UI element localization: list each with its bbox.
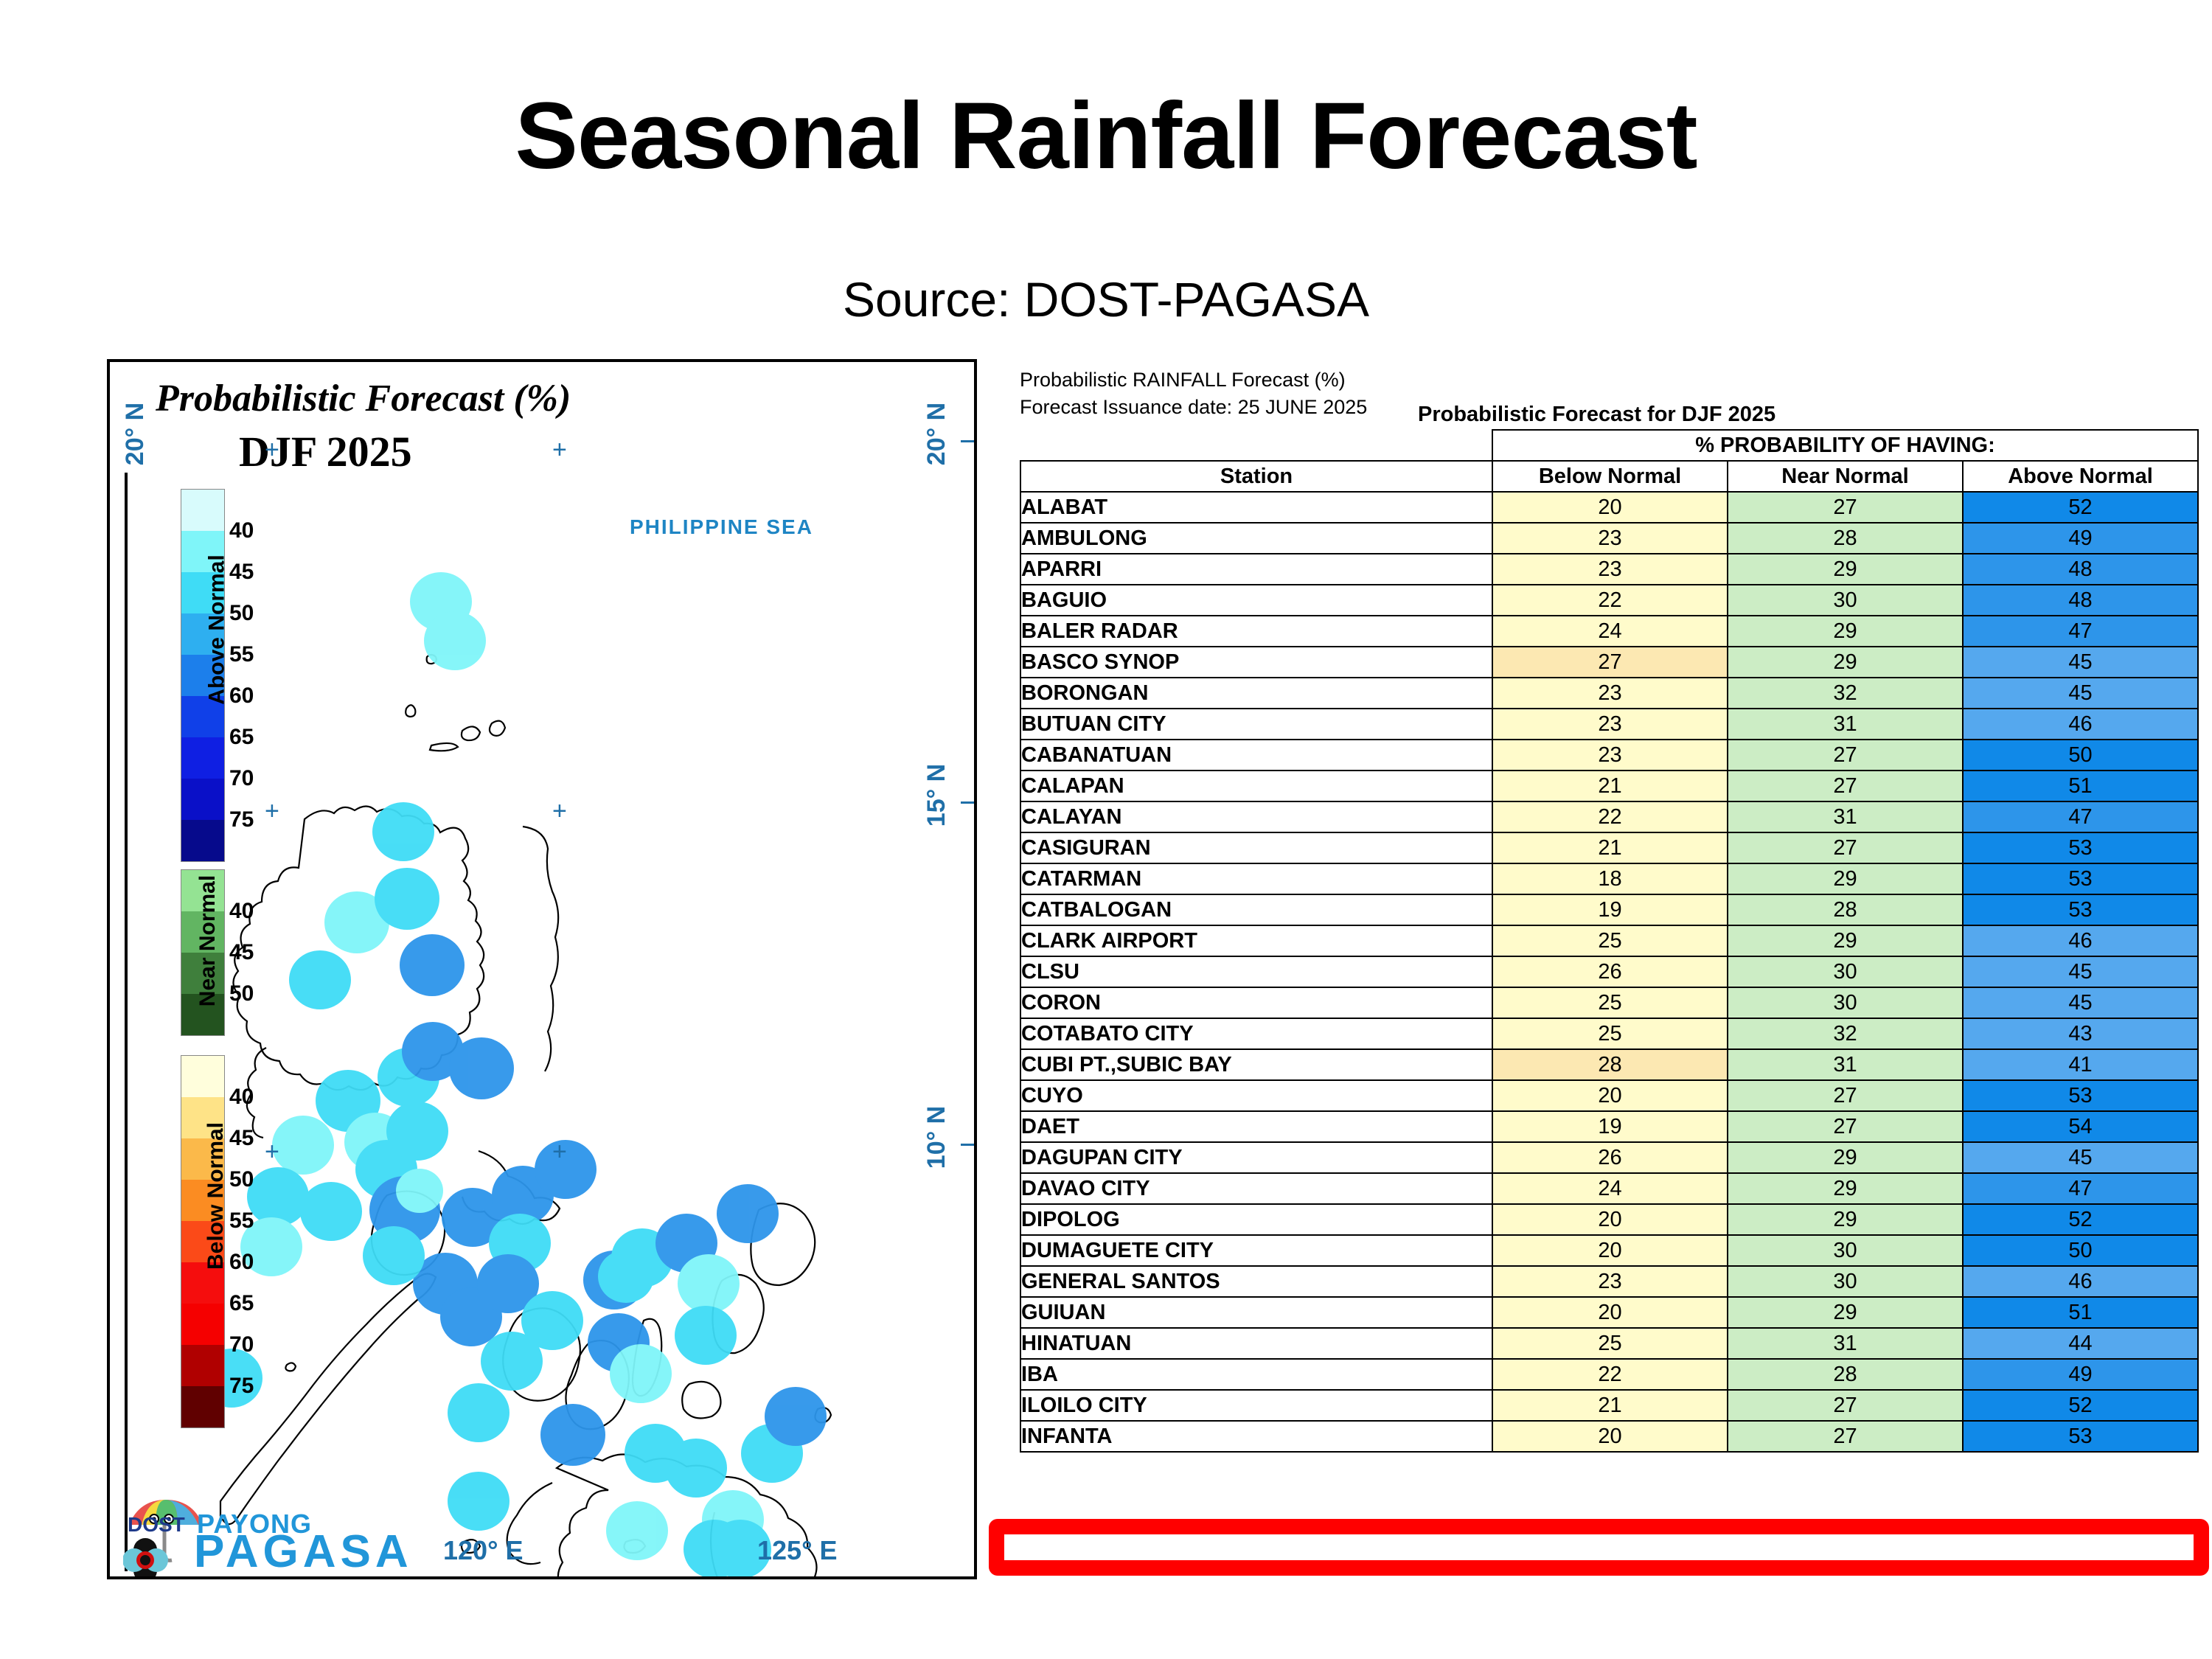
cell-station: COTABATO CITY	[1020, 1018, 1492, 1049]
blank-header-cell	[1020, 430, 1492, 461]
cell-near-normal: 31	[1728, 1328, 1963, 1359]
cell-below-normal: 22	[1492, 1359, 1728, 1390]
table-column-header-row: Station Below Normal Near Normal Above N…	[1020, 461, 2198, 492]
cell-below-normal: 23	[1492, 523, 1728, 554]
cell-above-normal: 47	[1963, 801, 2198, 832]
cell-station: CATARMAN	[1020, 863, 1492, 894]
cell-station: BORONGAN	[1020, 678, 1492, 709]
cell-near-normal: 28	[1728, 523, 1963, 554]
cell-station: BUTUAN CITY	[1020, 709, 1492, 740]
cell-station: CATBALOGAN	[1020, 894, 1492, 925]
cell-above-normal: 53	[1963, 894, 2198, 925]
cell-near-normal: 30	[1728, 1235, 1963, 1266]
grid-crosshair: +	[265, 799, 279, 824]
cell-above-normal: 50	[1963, 740, 2198, 771]
cell-above-normal: 49	[1963, 1359, 2198, 1390]
cell-near-normal: 27	[1728, 1421, 1963, 1452]
table-row[interactable]: DAET192754	[1020, 1111, 2198, 1142]
cell-near-normal: 29	[1728, 863, 1963, 894]
cell-near-normal: 30	[1728, 1266, 1963, 1297]
cell-station: CUYO	[1020, 1080, 1492, 1111]
cell-near-normal: 32	[1728, 1018, 1963, 1049]
cell-station: GENERAL SANTOS	[1020, 1266, 1492, 1297]
cell-below-normal: 25	[1492, 987, 1728, 1018]
cell-above-normal: 50	[1963, 1235, 2198, 1266]
cell-near-normal: 27	[1728, 1390, 1963, 1421]
table-row[interactable]: CUBI PT.,SUBIC BAY283141	[1020, 1049, 2198, 1080]
lon-label-120e: 120° E	[443, 1535, 523, 1566]
philippine-sea-label: PHILIPPINE SEA	[630, 515, 813, 539]
legend-band	[181, 490, 224, 531]
grid-crosshair: +	[552, 799, 567, 824]
table-row[interactable]: ILOILO CITY212752	[1020, 1390, 2198, 1421]
forecast-table-body: ALABAT202752AMBULONG232849APARRI232948BA…	[1020, 492, 2198, 1452]
cell-near-normal: 29	[1728, 647, 1963, 678]
legend-band	[181, 820, 224, 861]
table-group-header-row: % PROBABILITY OF HAVING:	[1020, 430, 2198, 461]
legend-above-normal-label: Above Normal	[205, 554, 230, 704]
page-subtitle: Source: DOST-PAGASA	[0, 271, 2212, 327]
cell-near-normal: 29	[1728, 1173, 1963, 1204]
legend-divider	[125, 473, 128, 1571]
cell-above-normal: 51	[1963, 1297, 2198, 1328]
cell-above-normal: 51	[1963, 771, 2198, 801]
cell-below-normal: 20	[1492, 1235, 1728, 1266]
cell-near-normal: 29	[1728, 616, 1963, 647]
cell-near-normal: 31	[1728, 801, 1963, 832]
cell-below-normal: 23	[1492, 554, 1728, 585]
table-row[interactable]: CUYO202753	[1020, 1080, 2198, 1111]
cell-below-normal: 21	[1492, 832, 1728, 863]
legend-tick-label: 50	[229, 983, 254, 1005]
col-header-station[interactable]: Station	[1020, 461, 1492, 492]
table-row[interactable]: DIPOLOG202952	[1020, 1204, 2198, 1235]
cell-station: CLARK AIRPORT	[1020, 925, 1492, 956]
cell-above-normal: 52	[1963, 1390, 2198, 1421]
cell-near-normal: 31	[1728, 709, 1963, 740]
legend-tick-label: 50	[229, 602, 254, 625]
grid-crosshair: +	[265, 437, 279, 462]
cell-above-normal: 41	[1963, 1049, 2198, 1080]
cell-near-normal: 27	[1728, 492, 1963, 523]
cell-station: CABANATUAN	[1020, 740, 1492, 771]
cell-near-normal: 30	[1728, 956, 1963, 987]
cell-below-normal: 28	[1492, 1049, 1728, 1080]
cell-near-normal: 32	[1728, 678, 1963, 709]
cell-below-normal: 21	[1492, 771, 1728, 801]
cell-station: ALABAT	[1020, 492, 1492, 523]
table-row[interactable]: APARRI232948	[1020, 554, 2198, 585]
table-row[interactable]: BAGUIO223048	[1020, 585, 2198, 616]
forecast-map-panel: Probabilistic Forecast (%) DJF 2025 PHIL…	[107, 359, 977, 1579]
table-row[interactable]: DUMAGUETE CITY203050	[1020, 1235, 2198, 1266]
cell-below-normal: 20	[1492, 492, 1728, 523]
tick-10n	[961, 1144, 974, 1146]
cell-below-normal: 19	[1492, 1111, 1728, 1142]
grid-crosshair: +	[265, 1139, 279, 1164]
cell-above-normal: 53	[1963, 863, 2198, 894]
cell-station: ILOILO CITY	[1020, 1390, 1492, 1421]
cell-station: INFANTA	[1020, 1421, 1492, 1452]
cell-below-normal: 25	[1492, 1328, 1728, 1359]
cell-near-normal: 29	[1728, 925, 1963, 956]
legend-tick-label: 70	[229, 768, 254, 790]
legend-below-normal-label: Below Normal	[204, 1122, 229, 1270]
cell-station: CALAPAN	[1020, 771, 1492, 801]
lat-label-right-20n: 20° N	[922, 403, 951, 465]
map-title: Probabilistic Forecast (%)	[156, 377, 672, 420]
tick-15n	[961, 801, 974, 804]
lon-label-125e: 125° E	[757, 1535, 837, 1566]
cell-below-normal: 23	[1492, 1266, 1728, 1297]
cell-station: DAGUPAN CITY	[1020, 1142, 1492, 1173]
table-row[interactable]: BORONGAN233245	[1020, 678, 2198, 709]
cell-near-normal: 27	[1728, 832, 1963, 863]
col-header-above-normal[interactable]: Above Normal	[1963, 461, 2198, 492]
cell-near-normal: 28	[1728, 894, 1963, 925]
cell-station: CALAYAN	[1020, 801, 1492, 832]
legend-band	[181, 1304, 224, 1345]
cell-near-normal: 27	[1728, 771, 1963, 801]
cell-below-normal: 26	[1492, 956, 1728, 987]
table-caption-right: Probabilistic Forecast for DJF 2025	[1418, 403, 1775, 427]
cell-near-normal: 29	[1728, 1297, 1963, 1328]
legend-tick-label: 40	[229, 520, 254, 542]
cell-above-normal: 46	[1963, 925, 2198, 956]
tick-20n	[961, 440, 974, 442]
cell-above-normal: 52	[1963, 492, 2198, 523]
legend-band	[181, 779, 224, 820]
cell-near-normal: 29	[1728, 1142, 1963, 1173]
cell-above-normal: 45	[1963, 987, 2198, 1018]
table-row[interactable]: CLARK AIRPORT252946	[1020, 925, 2198, 956]
forecast-table-panel: Probabilistic RAINFALL Forecast (%) Fore…	[1020, 369, 2198, 1453]
legend-tick-label: 45	[229, 942, 254, 964]
cell-below-normal: 23	[1492, 678, 1728, 709]
col-header-near-normal[interactable]: Near Normal	[1728, 461, 1963, 492]
legend-tick-label: 40	[229, 1086, 254, 1108]
probability-group-header: % PROBABILITY OF HAVING:	[1492, 430, 2198, 461]
table-row[interactable]: IBA222849	[1020, 1359, 2198, 1390]
legend-band	[181, 1345, 224, 1386]
cell-above-normal: 52	[1963, 1204, 2198, 1235]
legend-tick-label: 75	[229, 809, 254, 831]
table-row[interactable]: CATARMAN182953	[1020, 863, 2198, 894]
iloilo-city-highlight-box	[989, 1519, 2209, 1576]
legend-tick-label: 60	[229, 1251, 254, 1273]
cell-above-normal: 47	[1963, 1173, 2198, 1204]
cell-below-normal: 23	[1492, 740, 1728, 771]
lat-label-left-20n: 20° N	[121, 403, 150, 465]
cell-station: HINATUAN	[1020, 1328, 1492, 1359]
legend-near-normal-label: Near Normal	[195, 875, 220, 1006]
table-row[interactable]: DAGUPAN CITY262945	[1020, 1142, 2198, 1173]
cell-above-normal: 48	[1963, 554, 2198, 585]
cell-above-normal: 45	[1963, 647, 2198, 678]
table-row[interactable]: CORON253045	[1020, 987, 2198, 1018]
cell-near-normal: 27	[1728, 740, 1963, 771]
cell-above-normal: 46	[1963, 1266, 2198, 1297]
cell-below-normal: 20	[1492, 1421, 1728, 1452]
cell-near-normal: 30	[1728, 987, 1963, 1018]
grid-crosshair: +	[552, 437, 567, 462]
legend-tick-label: 50	[229, 1169, 254, 1191]
logo-pagasa-label: PAGASA	[194, 1529, 413, 1575]
legend-tick-label: 45	[229, 561, 254, 583]
cell-below-normal: 20	[1492, 1297, 1728, 1328]
cell-above-normal: 53	[1963, 1080, 2198, 1111]
cell-station: BASCO SYNOP	[1020, 647, 1492, 678]
cell-above-normal: 44	[1963, 1328, 2198, 1359]
cell-station: DAET	[1020, 1111, 1492, 1142]
cell-above-normal: 48	[1963, 585, 2198, 616]
cell-below-normal: 20	[1492, 1204, 1728, 1235]
table-row[interactable]: GUIUAN202951	[1020, 1297, 2198, 1328]
cell-below-normal: 24	[1492, 1173, 1728, 1204]
legend-tick-label: 45	[229, 1127, 254, 1150]
table-row[interactable]: GENERAL SANTOS233046	[1020, 1266, 2198, 1297]
cell-below-normal: 25	[1492, 925, 1728, 956]
cell-below-normal: 22	[1492, 801, 1728, 832]
legend-tick-label: 40	[229, 900, 254, 922]
table-row[interactable]: CALAPAN212751	[1020, 771, 2198, 801]
cell-near-normal: 31	[1728, 1049, 1963, 1080]
cell-above-normal: 53	[1963, 1421, 2198, 1452]
cell-above-normal: 53	[1963, 832, 2198, 863]
cell-near-normal: 29	[1728, 554, 1963, 585]
logo-dost-label: DOST	[128, 1513, 185, 1537]
cell-below-normal: 25	[1492, 1018, 1728, 1049]
cell-above-normal: 54	[1963, 1111, 2198, 1142]
legend-band	[181, 1056, 224, 1097]
table-row[interactable]: ALABAT202752	[1020, 492, 2198, 523]
cell-above-normal: 49	[1963, 523, 2198, 554]
cell-below-normal: 22	[1492, 585, 1728, 616]
table-caption-line1: Probabilistic RAINFALL Forecast (%)	[1020, 369, 2198, 392]
cell-near-normal: 27	[1728, 1111, 1963, 1142]
table-row[interactable]: DAVAO CITY242947	[1020, 1173, 2198, 1204]
cell-station: BAGUIO	[1020, 585, 1492, 616]
cell-station: IBA	[1020, 1359, 1492, 1390]
cell-station: APARRI	[1020, 554, 1492, 585]
cell-above-normal: 45	[1963, 956, 2198, 987]
cell-near-normal: 28	[1728, 1359, 1963, 1390]
cell-above-normal: 43	[1963, 1018, 2198, 1049]
grid-crosshair: +	[552, 1139, 567, 1164]
cell-above-normal: 45	[1963, 1142, 2198, 1173]
cell-below-normal: 23	[1492, 709, 1728, 740]
table-row[interactable]: HINATUAN253144	[1020, 1328, 2198, 1359]
cell-station: DIPOLOG	[1020, 1204, 1492, 1235]
cell-station: CORON	[1020, 987, 1492, 1018]
cell-above-normal: 46	[1963, 709, 2198, 740]
table-row[interactable]: COTABATO CITY253243	[1020, 1018, 2198, 1049]
cell-near-normal: 29	[1728, 1204, 1963, 1235]
legend-tick-label: 60	[229, 685, 254, 707]
forecast-table: % PROBABILITY OF HAVING: Station Below N…	[1020, 429, 2199, 1453]
legend-tick-label: 65	[229, 1293, 254, 1315]
cell-below-normal: 27	[1492, 647, 1728, 678]
table-row[interactable]: BASCO SYNOP272945	[1020, 647, 2198, 678]
legend-band	[181, 1386, 224, 1427]
legend-tick-label: 75	[229, 1375, 254, 1397]
cell-station: BALER RADAR	[1020, 616, 1492, 647]
cell-below-normal: 21	[1492, 1390, 1728, 1421]
table-row[interactable]: BUTUAN CITY233146	[1020, 709, 2198, 740]
col-header-below-normal[interactable]: Below Normal	[1492, 461, 1728, 492]
table-row[interactable]: AMBULONG232849	[1020, 523, 2198, 554]
page-title: Seasonal Rainfall Forecast	[0, 87, 2212, 186]
cell-station: GUIUAN	[1020, 1297, 1492, 1328]
cell-below-normal: 18	[1492, 863, 1728, 894]
table-row[interactable]: BALER RADAR242947	[1020, 616, 2198, 647]
table-row[interactable]: CABANATUAN232750	[1020, 740, 2198, 771]
cell-station: AMBULONG	[1020, 523, 1492, 554]
cell-station: CASIGURAN	[1020, 832, 1492, 863]
legend-tick-label: 55	[229, 644, 254, 666]
cell-below-normal: 20	[1492, 1080, 1728, 1111]
lat-label-right-10n: 10° N	[922, 1106, 951, 1169]
lat-label-right-15n: 15° N	[922, 764, 951, 827]
legend-tick-label: 70	[229, 1334, 254, 1356]
table-row[interactable]: CASIGURAN212753	[1020, 832, 2198, 863]
cell-station: DAVAO CITY	[1020, 1173, 1492, 1204]
cell-station: CLSU	[1020, 956, 1492, 987]
legend-tick-label: 65	[229, 726, 254, 748]
cell-near-normal: 27	[1728, 1080, 1963, 1111]
legend-band	[181, 737, 224, 779]
cell-near-normal: 30	[1728, 585, 1963, 616]
legend-tick-label: 55	[229, 1210, 254, 1232]
table-row[interactable]: CALAYAN223147	[1020, 801, 2198, 832]
cell-below-normal: 24	[1492, 616, 1728, 647]
cell-below-normal: 26	[1492, 1142, 1728, 1173]
table-row[interactable]: INFANTA202753	[1020, 1421, 2198, 1452]
table-row[interactable]: CLSU263045	[1020, 956, 2198, 987]
cell-station: CUBI PT.,SUBIC BAY	[1020, 1049, 1492, 1080]
cell-station: DUMAGUETE CITY	[1020, 1235, 1492, 1266]
pagasa-logo: DOST PAYONG PAGASA The Weather and Clima…	[123, 1467, 366, 1569]
cell-above-normal: 45	[1963, 678, 2198, 709]
table-row[interactable]: CATBALOGAN192853	[1020, 894, 2198, 925]
cell-above-normal: 47	[1963, 616, 2198, 647]
cell-below-normal: 19	[1492, 894, 1728, 925]
